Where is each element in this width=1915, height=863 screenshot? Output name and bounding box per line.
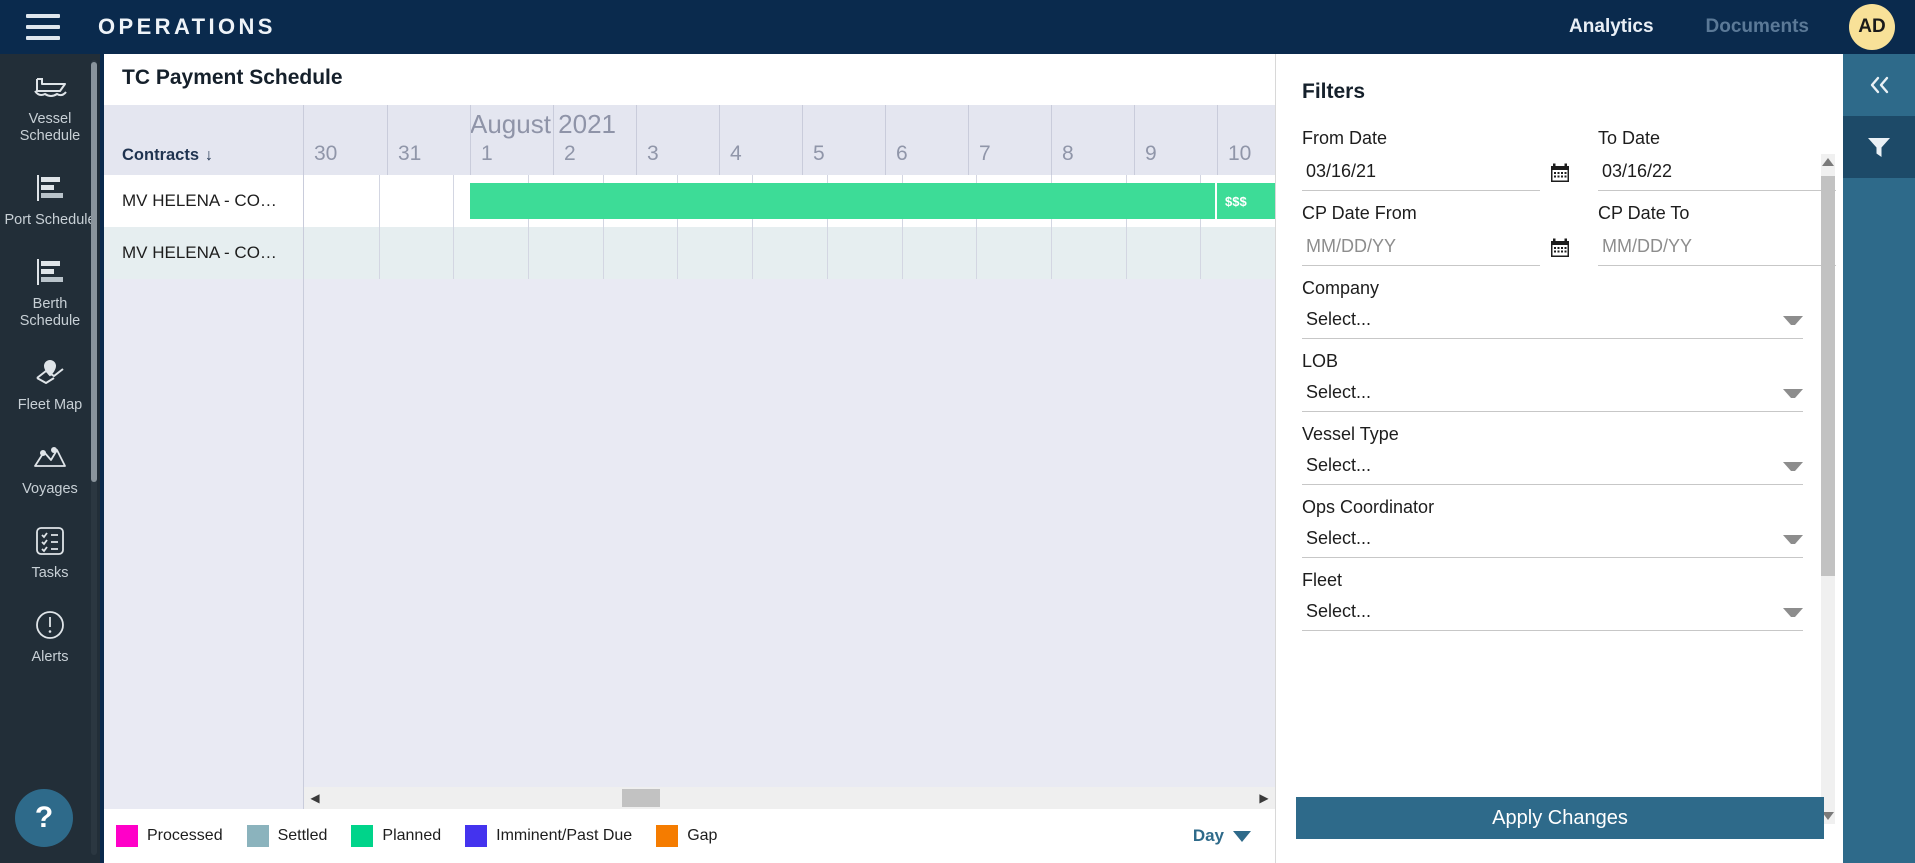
chevron-down-icon <box>1783 535 1803 544</box>
filter-select-value-ops-coordinator: Select... <box>1302 528 1371 549</box>
chevron-down-icon <box>1233 831 1251 842</box>
gantt-bar-segment[interactable] <box>470 183 1217 219</box>
filter-field-cp-date-to: CP Date To <box>1598 203 1843 266</box>
timeline-day-column: 8 <box>1051 105 1134 175</box>
gantt-header: Contracts ↓ August 2021 3031123456789101… <box>104 105 1275 175</box>
chevron-down-icon <box>1783 462 1803 471</box>
gantt-grid-cell <box>304 175 379 227</box>
filter-select-value-company: Select... <box>1302 309 1371 330</box>
timeline-day-number: 10 <box>1228 142 1251 166</box>
gantt-empty-area <box>104 279 1275 809</box>
timeline-day-number: 3 <box>647 142 659 166</box>
gantt-row-label: MV HELENA - CO… <box>104 227 304 279</box>
sidebar-item-label: Tasks <box>4 565 96 582</box>
sidebar-item-berth-schedule[interactable]: Berth Schedule <box>0 239 100 340</box>
timeline-day-column: 4 <box>719 105 802 175</box>
timeline-day-number: 6 <box>896 142 908 166</box>
right-rail <box>1843 54 1915 863</box>
gantt-grid-cell <box>379 175 454 227</box>
timeline-day-number: 31 <box>398 142 421 166</box>
gantt-grid-cell <box>304 227 379 279</box>
sort-descending-icon[interactable]: ↓ <box>205 147 213 165</box>
timeline-day-column: 30 <box>304 105 387 175</box>
gantt-grid-lines <box>304 227 1275 279</box>
calendar-icon <box>1550 163 1570 183</box>
timeline-day-number: 4 <box>730 142 742 166</box>
gantt-grid-cell <box>976 227 1051 279</box>
filter-label-lob: LOB <box>1302 351 1803 372</box>
filter-input-wrap-cp-date-from <box>1302 234 1570 266</box>
filter-label-cp-date-from: CP Date From <box>1302 203 1570 224</box>
calendar-icon[interactable] <box>1550 238 1570 258</box>
filter-label-from-date: From Date <box>1302 128 1570 149</box>
calendar-icon <box>1550 238 1570 258</box>
avatar[interactable]: AD <box>1849 4 1895 50</box>
timeline-day-column: 9 <box>1134 105 1217 175</box>
legend-item: Planned <box>351 825 441 847</box>
exclamation-circle-icon <box>4 608 96 642</box>
collapse-panel-button[interactable] <box>1843 54 1915 116</box>
timeline-day-column: 1 <box>470 105 553 175</box>
filters-scroll-up-button[interactable] <box>1821 154 1835 170</box>
hamburger-line <box>26 14 60 18</box>
gantt-grid-cell <box>1051 227 1126 279</box>
gantt-horizontal-scrollbar[interactable]: ◀ ▶ <box>304 787 1275 809</box>
timeline-day-column: 31 <box>387 105 470 175</box>
legend-label: Gap <box>687 827 717 845</box>
filter-field-lob: LOBSelect... <box>1302 351 1803 412</box>
timeline-day-number: 7 <box>979 142 991 166</box>
funnel-icon <box>1865 133 1893 161</box>
left-sidebar: Vessel Schedule Port Schedule <box>0 54 100 863</box>
gantt-row[interactable]: MV HELENA - CO…$$$ <box>104 175 1275 227</box>
timeline-day-number: 1 <box>481 142 493 166</box>
gantt-header-contracts[interactable]: Contracts ↓ <box>104 105 304 175</box>
gantt-legend: ProcessedSettledPlannedImminent/Past Due… <box>104 809 1275 863</box>
filter-select-vessel-type[interactable]: Select... <box>1302 455 1803 485</box>
ship-icon <box>4 70 96 104</box>
filter-toggle-button[interactable] <box>1843 116 1915 178</box>
chevron-down-icon <box>1783 316 1803 325</box>
legend-swatch <box>247 825 269 847</box>
sidebar-item-port-schedule[interactable]: Port Schedule <box>0 155 100 239</box>
filter-label-cp-date-to: CP Date To <box>1598 203 1843 224</box>
filter-input-wrap-to-date <box>1598 159 1843 191</box>
filter-label-to-date: To Date <box>1598 128 1843 149</box>
filter-select-value-vessel-type: Select... <box>1302 455 1371 476</box>
time-scale-value: Day <box>1193 826 1224 846</box>
sidebar-item-label: Fleet Map <box>4 397 96 414</box>
filter-field-company: CompanySelect... <box>1302 278 1803 339</box>
tab-analytics[interactable]: Analytics <box>1543 16 1679 38</box>
filter-label-fleet: Fleet <box>1302 570 1803 591</box>
main-panel: TC Payment Schedule Contracts ↓ August 2… <box>100 54 1275 863</box>
help-button[interactable]: ? <box>15 789 73 847</box>
timeline-day-number: 2 <box>564 142 576 166</box>
gantt-body: MV HELENA - CO…$$$MV HELENA - CO… <box>104 175 1275 809</box>
triangle-up-icon <box>1822 158 1834 166</box>
scroll-left-arrow-icon[interactable]: ◀ <box>304 791 326 805</box>
chevron-down-icon <box>1783 389 1803 398</box>
filter-label-company: Company <box>1302 278 1803 299</box>
timeline-day-column: 5 <box>802 105 885 175</box>
filter-input-wrap-cp-date-to <box>1598 234 1843 266</box>
bar-chart-icon <box>4 255 96 289</box>
sidebar-item-label: Berth Schedule <box>4 296 96 330</box>
sidebar-item-tasks[interactable]: Tasks <box>0 508 100 592</box>
filter-field-to-date: To Date <box>1598 128 1843 191</box>
timeline-day-number: 8 <box>1062 142 1074 166</box>
gantt-grid-cell <box>752 227 827 279</box>
filters-panel: Filters From DateTo DateCP Date FromCP D… <box>1275 54 1843 863</box>
top-app-bar: OPERATIONS Analytics Documents AD <box>0 0 1915 54</box>
filter-field-vessel-type: Vessel TypeSelect... <box>1302 424 1803 485</box>
filter-input-from-date[interactable] <box>1302 159 1540 191</box>
double-chevron-left-icon <box>1865 74 1893 96</box>
hamburger-line <box>26 36 60 40</box>
gantt-grid-cell <box>453 227 528 279</box>
timeline-day-column: 10 <box>1217 105 1275 175</box>
filter-select-value-fleet: Select... <box>1302 601 1371 622</box>
filter-row: CP Date FromCP Date To <box>1302 203 1803 278</box>
map-pin-icon <box>4 356 96 390</box>
legend-swatch <box>465 825 487 847</box>
route-pins-icon <box>4 440 96 474</box>
bar-chart-icon <box>4 171 96 205</box>
gantt-grid-cell <box>603 227 678 279</box>
gantt-grid-cell <box>379 227 454 279</box>
gantt-grid-cell <box>827 227 902 279</box>
filter-select-lob[interactable]: Select... <box>1302 382 1803 412</box>
chevron-down-icon <box>1783 608 1803 617</box>
top-nav: Analytics Documents AD <box>1543 0 1915 54</box>
gantt-chart: Contracts ↓ August 2021 3031123456789101… <box>104 105 1275 809</box>
gantt-empty-left-column <box>104 279 304 809</box>
sidebar-item-vessel-schedule[interactable]: Vessel Schedule <box>0 54 100 155</box>
timeline-day-column: 2 <box>553 105 636 175</box>
filter-field-fleet: FleetSelect... <box>1302 570 1803 631</box>
gantt-grid-cell <box>1126 227 1201 279</box>
timeline-day-column: 3 <box>636 105 719 175</box>
sidebar-item-alerts[interactable]: Alerts <box>0 592 100 676</box>
apply-changes-button[interactable]: Apply Changes <box>1296 797 1824 839</box>
legend-label: Imminent/Past Due <box>496 827 632 845</box>
sidebar-item-label: Port Schedule <box>4 212 96 229</box>
legend-item: Imminent/Past Due <box>465 825 632 847</box>
sidebar-scrollbar-thumb[interactable] <box>91 62 97 482</box>
legend-swatch <box>116 825 138 847</box>
filter-input-wrap-from-date <box>1302 159 1570 191</box>
gantt-grid-cell <box>902 227 977 279</box>
filter-select-fleet[interactable]: Select... <box>1302 601 1803 631</box>
sidebar-item-label: Voyages <box>4 481 96 498</box>
filter-label-vessel-type: Vessel Type <box>1302 424 1803 445</box>
filter-input-cp-date-to[interactable] <box>1598 234 1836 266</box>
app-root: OPERATIONS Analytics Documents AD Vessel… <box>0 0 1915 863</box>
gantt-bar-segment[interactable]: $$$ <box>1217 183 1275 219</box>
filter-label-ops-coordinator: Ops Coordinator <box>1302 497 1803 518</box>
legend-label: Processed <box>147 827 223 845</box>
filter-select-company[interactable]: Select... <box>1302 309 1803 339</box>
timeline-day-columns: 30311234567891011 <box>304 105 1275 175</box>
filter-select-value-lob: Select... <box>1302 382 1371 403</box>
gantt-grid-cell <box>677 227 752 279</box>
timeline-day-number: 30 <box>314 142 337 166</box>
filter-row: From DateTo Date <box>1302 128 1803 203</box>
gantt-bar[interactable]: $$$ <box>1217 183 1275 219</box>
tab-documents[interactable]: Documents <box>1680 16 1835 38</box>
gantt-bar[interactable] <box>470 183 1217 219</box>
checklist-icon <box>4 524 96 558</box>
filters-title: Filters <box>1276 54 1843 104</box>
filter-select-ops-coordinator[interactable]: Select... <box>1302 528 1803 558</box>
sidebar-item-label: Alerts <box>4 649 96 666</box>
time-scale-selector[interactable]: Day <box>1193 826 1251 846</box>
gantt-row-track <box>304 227 1275 279</box>
contracts-column-header: Contracts <box>122 146 199 165</box>
gantt-row[interactable]: MV HELENA - CO… <box>104 227 1275 279</box>
filters-scrollbar-thumb[interactable] <box>1821 176 1835 576</box>
gantt-bar-amount-label: $$$ <box>1217 194 1247 209</box>
gantt-grid-cell <box>528 227 603 279</box>
gantt-row-track: $$$ <box>304 175 1275 227</box>
sidebar-item-label: Vessel Schedule <box>4 111 96 145</box>
scroll-right-arrow-icon[interactable]: ▶ <box>1253 791 1275 805</box>
legend-item: Settled <box>247 825 328 847</box>
sidebar-item-fleet-map[interactable]: Fleet Map <box>0 340 100 424</box>
app-brand-title: OPERATIONS <box>98 14 276 40</box>
timeline-day-column: 7 <box>968 105 1051 175</box>
legend-item: Gap <box>656 825 717 847</box>
timeline-day-number: 9 <box>1145 142 1157 166</box>
legend-label: Planned <box>382 827 441 845</box>
legend-label: Settled <box>278 827 328 845</box>
filter-input-to-date[interactable] <box>1598 159 1836 191</box>
timeline-day-number: 5 <box>813 142 825 166</box>
legend-item: Processed <box>116 825 223 847</box>
filters-scroll-area: From DateTo DateCP Date FromCP Date ToCo… <box>1276 118 1843 793</box>
filter-input-cp-date-from[interactable] <box>1302 234 1540 266</box>
legend-swatch <box>351 825 373 847</box>
hamburger-line <box>26 25 60 29</box>
horizontal-scrollbar-thumb[interactable] <box>622 789 660 807</box>
filter-field-cp-date-from: CP Date From <box>1302 203 1570 266</box>
gantt-row-label: MV HELENA - CO… <box>104 175 304 227</box>
hamburger-menu-icon[interactable] <box>26 14 60 40</box>
gantt-grid-cell <box>1200 227 1275 279</box>
gantt-header-timeline: August 2021 30311234567891011 <box>304 105 1275 175</box>
sidebar-item-voyages[interactable]: Voyages <box>0 424 100 508</box>
timeline-day-column: 6 <box>885 105 968 175</box>
page-title: TC Payment Schedule <box>104 54 1275 100</box>
filter-field-ops-coordinator: Ops CoordinatorSelect... <box>1302 497 1803 558</box>
legend-swatch <box>656 825 678 847</box>
filter-field-from-date: From Date <box>1302 128 1570 191</box>
calendar-icon[interactable] <box>1550 163 1570 183</box>
